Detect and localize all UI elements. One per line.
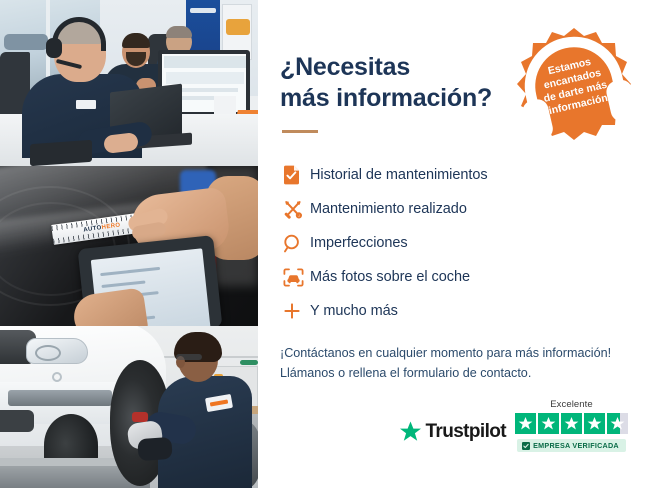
feature-label: Más fotos sobre el coche — [310, 269, 470, 285]
trustpilot-logo[interactable]: Trustpilot — [399, 420, 506, 452]
content-panel: ¿Necesitas más información? Estamos enca… — [258, 0, 650, 488]
star-1 — [515, 413, 536, 434]
mechanic-safety-glasses — [176, 354, 202, 360]
photo-call-center — [0, 0, 258, 166]
mechanic-glove-2 — [137, 437, 172, 461]
feature-item-maintenance-done[interactable]: Mantenimiento realizado — [280, 193, 624, 225]
car-emblem — [52, 372, 62, 382]
page-title: ¿Necesitas más información? — [280, 52, 520, 113]
green-hose-decor — [240, 360, 258, 365]
photo-car-inspection: AUTOHERO — [0, 166, 258, 326]
car-photo-frame-icon — [280, 268, 310, 287]
photo-column: AUTOHERO — [0, 0, 258, 488]
heading-line-2: más información? — [280, 83, 520, 114]
star-2 — [538, 413, 559, 434]
trustpilot-rating-label: Excelente — [550, 399, 593, 410]
feature-item-much-more[interactable]: Y mucho más — [280, 295, 624, 327]
trustpilot-brand-label: Trustpilot — [425, 421, 506, 443]
contact-paragraph: ¡Contáctanos en cualquier momento para m… — [280, 343, 624, 384]
feature-item-maintenance-history[interactable]: Historial de mantenimientos — [280, 159, 624, 191]
car-side-vent — [0, 410, 34, 432]
document-check-icon — [280, 165, 310, 185]
feature-list: Historial de mantenimientos M — [280, 159, 624, 327]
feature-item-imperfections[interactable]: Imperfecciones — [280, 227, 624, 259]
hand-tool — [132, 412, 148, 422]
person-3-hair — [166, 26, 192, 38]
photo-wheel-inspection — [0, 326, 258, 488]
star-3 — [561, 413, 582, 434]
trustpilot-rating-block: Excelente — [515, 399, 628, 452]
trustpilot-widget[interactable]: Trustpilot Excelente — [399, 399, 628, 452]
person-2-hair — [122, 33, 150, 48]
feature-label: Imperfecciones — [310, 235, 408, 251]
contact-line-2: Llámanos o rellena el formulario de cont… — [280, 363, 624, 383]
heading-line-1: ¿Necesitas — [280, 53, 410, 81]
trustpilot-stars — [515, 413, 628, 434]
star-5-partial — [607, 413, 628, 434]
person-1-name-badge — [76, 100, 96, 109]
title-divider — [282, 130, 318, 133]
promo-card: AUTOHERO — [0, 0, 650, 488]
feature-item-more-photos[interactable]: Más fotos sobre el coche — [280, 261, 624, 293]
contact-line-1: ¡Contáctanos en cualquier momento para m… — [280, 343, 624, 363]
tools-crossed-icon — [280, 199, 310, 219]
feature-label: Y mucho más — [310, 303, 398, 319]
feature-label: Mantenimiento realizado — [310, 201, 467, 217]
car-lower-vent — [8, 390, 112, 406]
verified-company-label: EMPRESA VERIFICADA — [533, 441, 619, 450]
feature-label: Historial de mantenimientos — [310, 167, 488, 183]
car-headlight — [26, 338, 88, 364]
magnifier-icon — [280, 234, 310, 253]
verified-company-badge: EMPRESA VERIFICADA — [517, 439, 626, 452]
plus-icon — [280, 302, 310, 320]
trustpilot-star-icon — [399, 420, 422, 443]
star-4 — [584, 413, 605, 434]
headset-earcup — [46, 38, 62, 58]
check-box-icon — [522, 442, 530, 450]
desk-tablet — [30, 140, 92, 166]
promo-badge: Estamos encantados de darte más informac… — [514, 26, 634, 146]
